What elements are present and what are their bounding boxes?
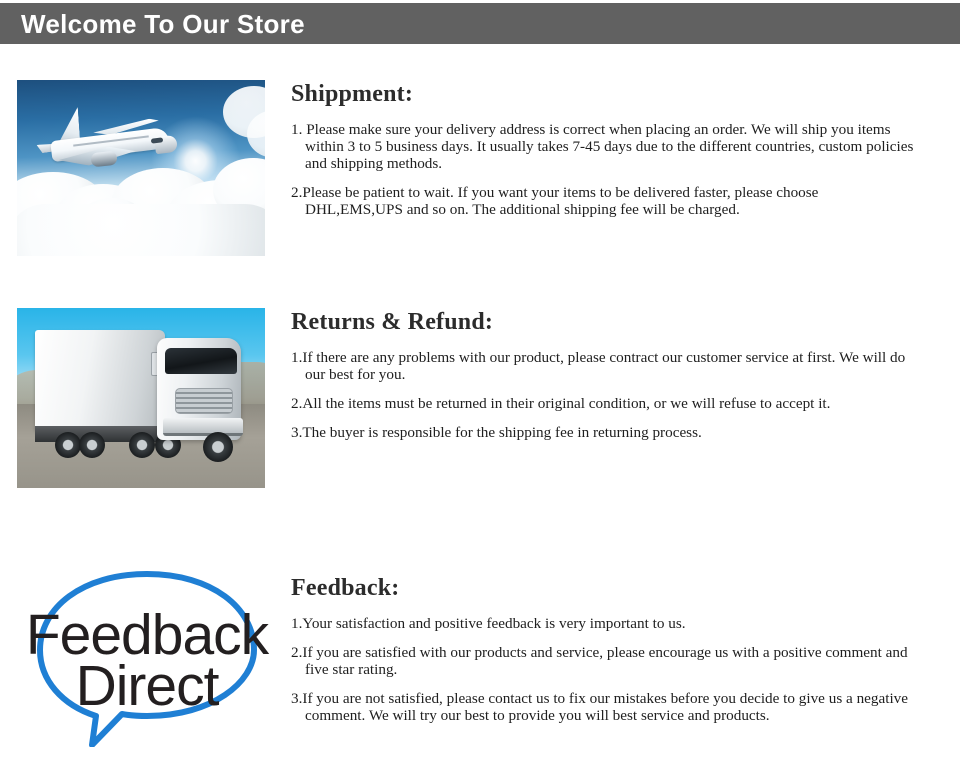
shipment-item-list: 1. Please make sure your delivery addres… — [291, 121, 916, 218]
truck-wheel — [55, 432, 81, 458]
list-item: 3.The buyer is responsible for the shipp… — [291, 424, 916, 441]
returns-text-block: Returns & Refund: 1.If there are any pro… — [291, 310, 916, 441]
semi-truck-image — [17, 308, 265, 488]
list-item: 3.If you are not satisfied, please conta… — [291, 690, 921, 724]
airplane-icon — [39, 108, 181, 170]
speech-bubble-icon: Feedback Direct — [22, 562, 272, 747]
list-item: 1.Your satisfaction and positive feedbac… — [291, 615, 921, 632]
truck-windshield — [165, 348, 237, 374]
list-item: 1. Please make sure your delivery addres… — [291, 121, 916, 172]
list-item-number: 2. — [291, 644, 302, 661]
list-item-text: Your satisfaction and positive feedback … — [302, 615, 685, 632]
returns-heading: Returns & Refund: — [291, 310, 916, 335]
list-item: 1.If there are any problems with our pro… — [291, 349, 916, 383]
list-item: 2.Please be patient to wait. If you want… — [291, 184, 916, 218]
list-item-number: 2. — [291, 184, 302, 201]
list-item: 2.If you are satisfied with our products… — [291, 644, 921, 678]
list-item-number: 1. — [291, 615, 302, 632]
truck-trailer — [35, 330, 165, 430]
list-item-text: Please be patient to wait. If you want y… — [302, 184, 818, 218]
airplane-photo — [17, 80, 265, 256]
list-item-text: If you are not satisfied, please contact… — [302, 690, 908, 724]
list-item-number: 3. — [291, 690, 302, 707]
feedback-heading: Feedback: — [291, 576, 921, 601]
list-item-number: 2. — [291, 395, 302, 412]
feedback-direct-logo: Feedback Direct — [22, 562, 272, 747]
page-header-bar: Welcome To Our Store — [0, 3, 960, 44]
truck-wheel — [79, 432, 105, 458]
list-item-text: If you are satisfied with our products a… — [302, 644, 907, 678]
list-item-number: 3. — [291, 424, 302, 441]
airplane-engine — [90, 151, 117, 168]
feedback-item-list: 1.Your satisfaction and positive feedbac… — [291, 615, 921, 724]
shipment-text-block: Shippment: 1. Please make sure your deli… — [291, 82, 916, 218]
list-item: 2.All the items must be returned in thei… — [291, 395, 916, 412]
list-item-text: If there are any problems with our produ… — [302, 349, 905, 383]
list-item-text: Please make sure your delivery address i… — [302, 121, 913, 172]
truck-grille — [175, 388, 233, 414]
list-item-text: All the items must be returned in their … — [302, 395, 830, 412]
shipment-heading: Shippment: — [291, 82, 916, 107]
feedback-text-block: Feedback: 1.Your satisfaction and positi… — [291, 576, 921, 724]
truck-bumper — [163, 418, 243, 436]
cloud-bank-shape — [17, 204, 265, 256]
list-item-number: 1. — [291, 121, 302, 138]
logo-line-2: Direct — [76, 654, 220, 718]
truck-wheel — [203, 432, 233, 462]
truck-wheel — [129, 432, 155, 458]
truck-photo — [17, 308, 265, 488]
list-item-text: The buyer is responsible for the shippin… — [302, 424, 701, 441]
list-item-number: 1. — [291, 349, 302, 366]
airplane-in-clouds-image — [17, 80, 265, 256]
returns-item-list: 1.If there are any problems with our pro… — [291, 349, 916, 441]
page-title: Welcome To Our Store — [21, 11, 305, 37]
